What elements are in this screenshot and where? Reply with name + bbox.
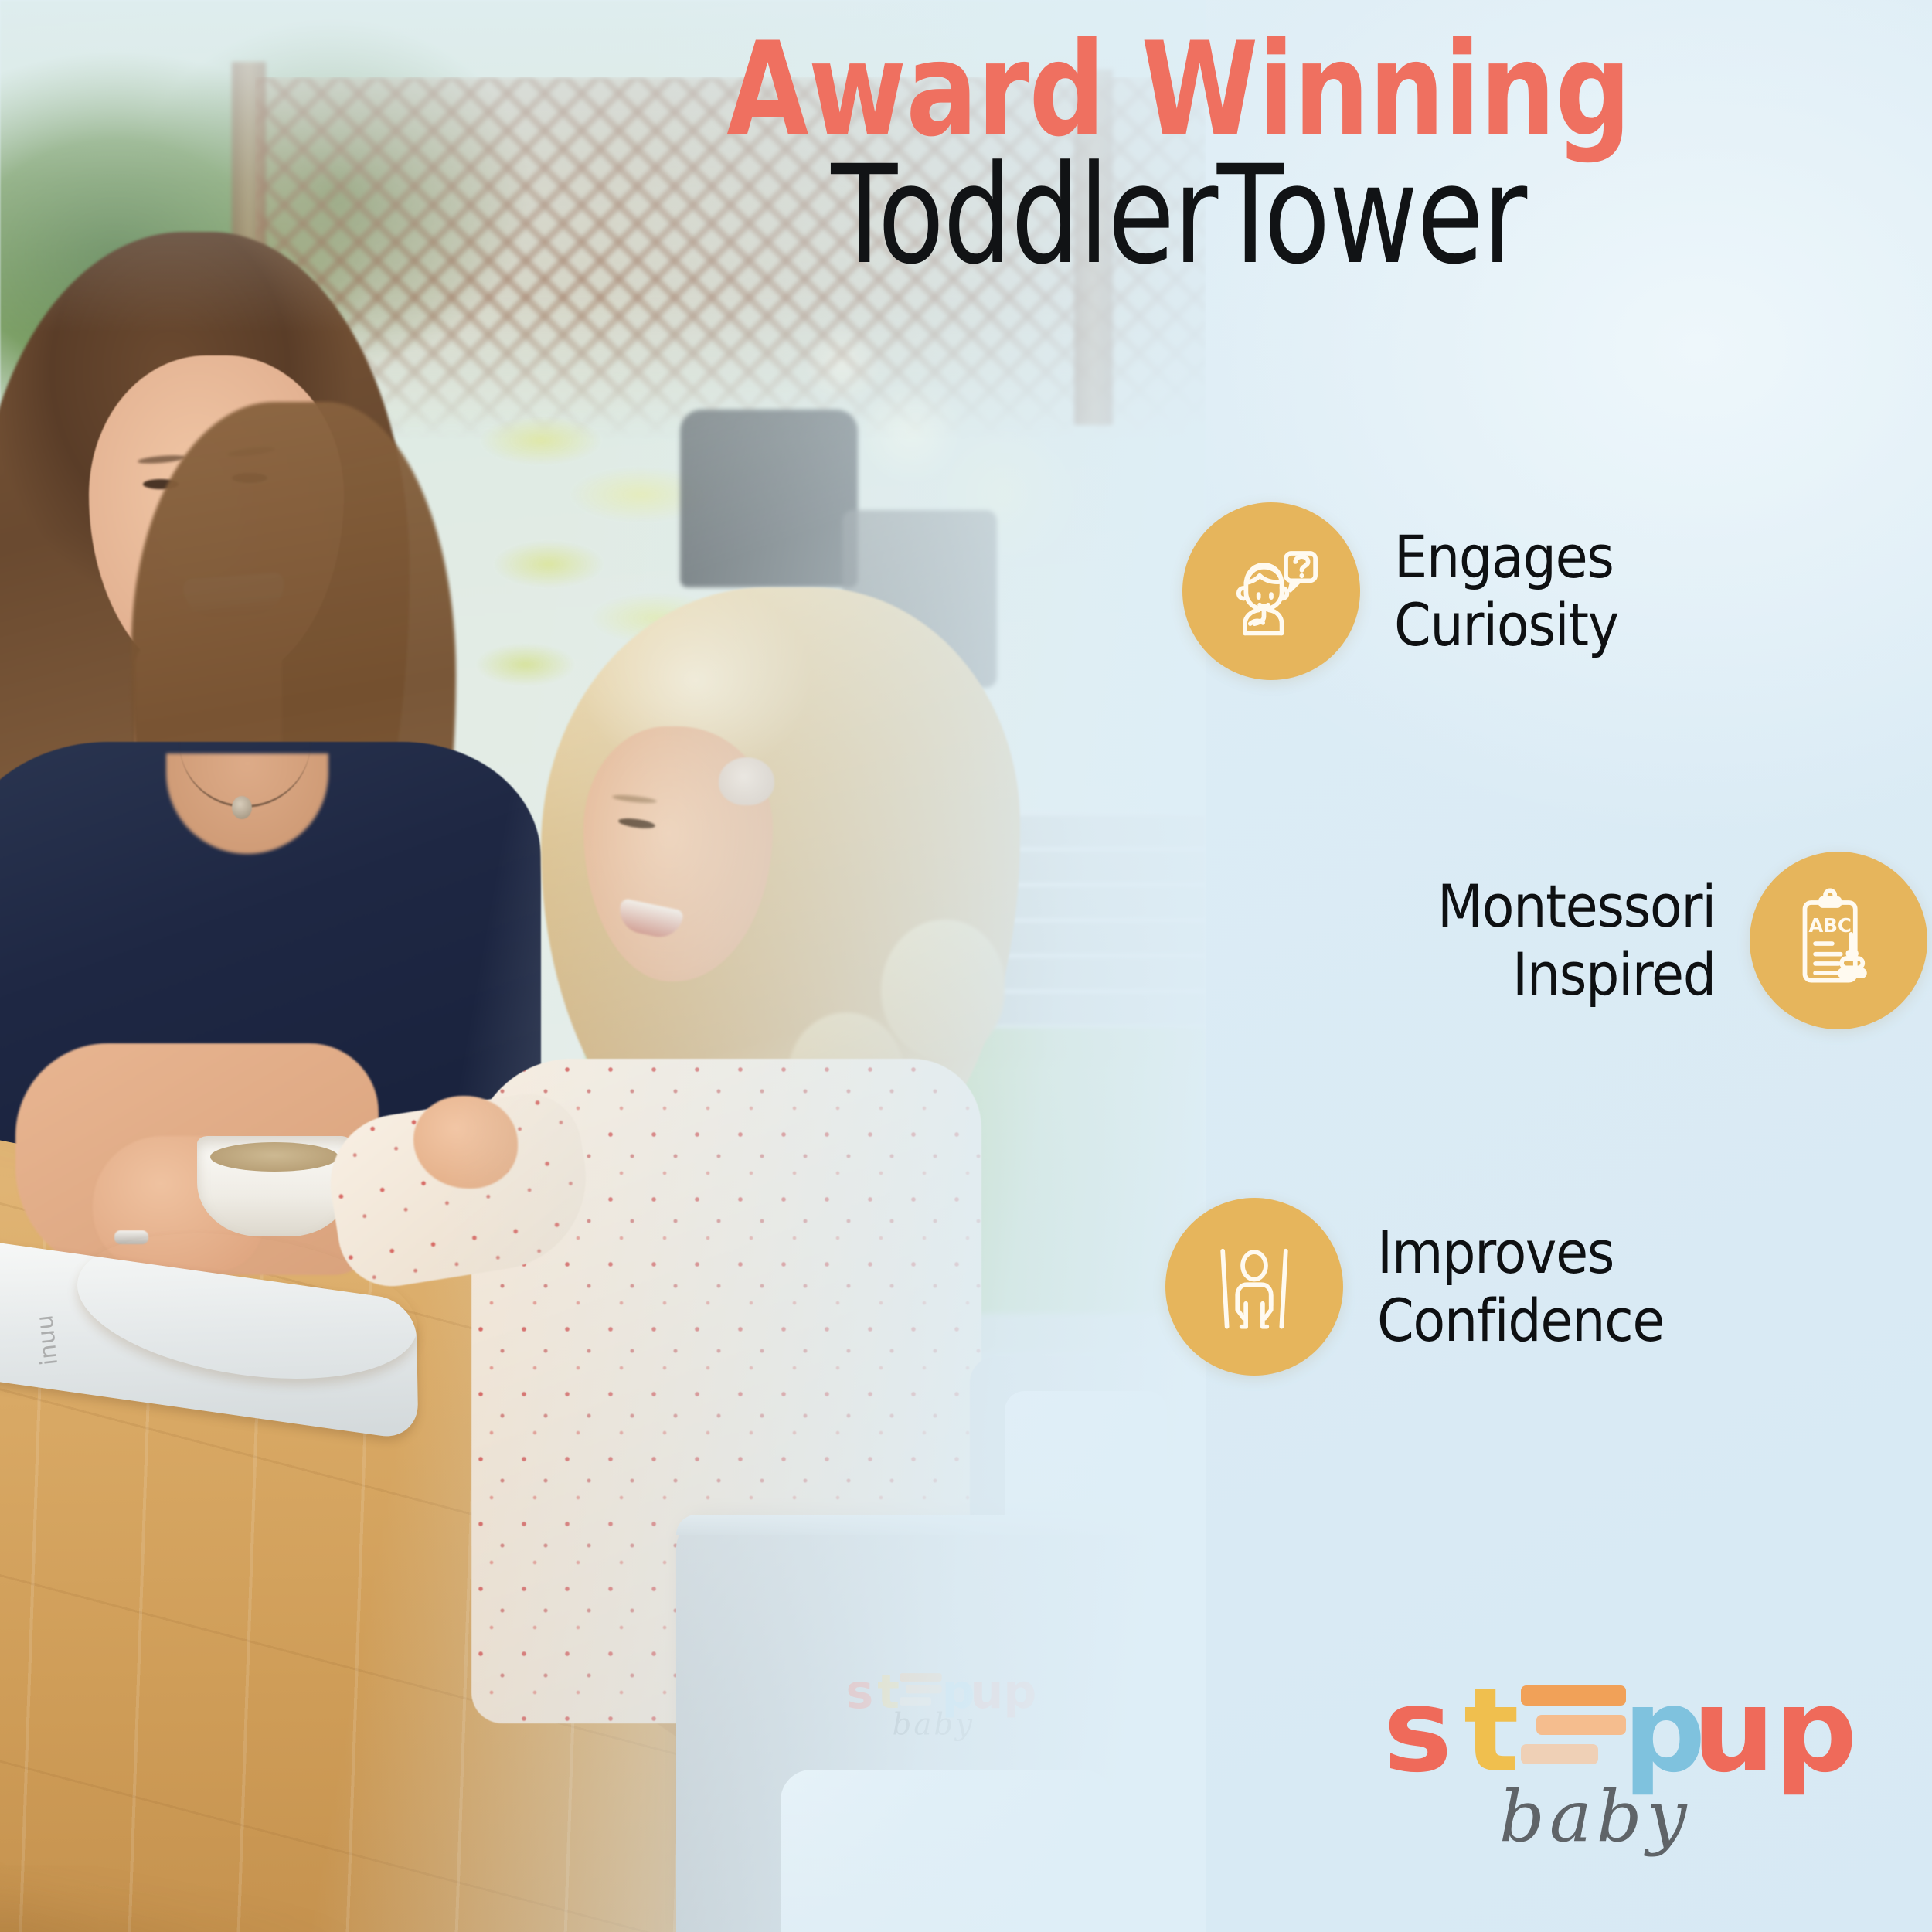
feature-montessori-inspired: ABC Montessori Inspired (1185, 852, 1927, 1029)
patio-chair (680, 410, 858, 587)
feature-list: Engages Curiosity ABC Montessori Inspire… (1182, 502, 1932, 1507)
feature-improves-confidence: Improves Confidence (1165, 1198, 1923, 1376)
learning-tower-rim (676, 1515, 1206, 1535)
brand-logo-step-bar-2 (1536, 1715, 1626, 1735)
mushroom-slices (210, 1142, 338, 1172)
product-logo-letter-u: u (971, 1668, 1004, 1715)
product-logo-tagline: baby (893, 1708, 975, 1743)
product-logo-step-bar-1 (900, 1673, 941, 1682)
product-logo-letter-p2: p (1003, 1668, 1036, 1715)
brand-logo-wordmark: s t p u p (1383, 1665, 1816, 1789)
feature-label: Montessori Inspired (1437, 872, 1716, 1009)
brand-logo-letter-s: s (1383, 1673, 1452, 1789)
necklace-pendant (232, 796, 252, 819)
thinking-child-question-icon (1219, 539, 1324, 644)
brand-logo-letter-u: u (1692, 1673, 1775, 1789)
learning-tower-fastener (1184, 1660, 1206, 1686)
headline-block: Award Winning ToddlerTower (448, 28, 1909, 284)
brand-logo-letter-p2: p (1774, 1673, 1857, 1789)
feature-label: Improves Confidence (1377, 1219, 1664, 1355)
brand-logo-step-bar-1 (1521, 1685, 1626, 1706)
product-logo-on-tower: s t p u p baby (846, 1646, 1071, 1759)
child-hair-curl (881, 920, 1005, 1059)
brand-logo-letter-t: t (1464, 1673, 1519, 1789)
child-standing-between-rails-icon (1202, 1234, 1307, 1339)
brand-logo-step-bar-3 (1521, 1744, 1598, 1764)
product-logo-step-bar-2 (906, 1685, 942, 1694)
learning-tower-front-cutout (781, 1770, 1113, 1932)
svg-text:ABC: ABC (1808, 914, 1852, 937)
badge-circle: ABC (1750, 852, 1927, 1029)
badge-circle (1182, 502, 1360, 680)
badge-circle (1165, 1198, 1343, 1376)
abc-clipboard-stacking-rings-icon: ABC (1786, 888, 1891, 993)
product-logo-step-bar-3 (900, 1697, 931, 1706)
page-title: ToddlerTower (594, 148, 1763, 284)
feature-label: Engages Curiosity (1394, 523, 1618, 659)
child-hair-clip (719, 757, 774, 805)
product-logo-letter-s: s (846, 1668, 874, 1715)
poster-canvas: inuu s t p u p (0, 0, 1932, 1932)
feature-engages-curiosity: Engages Curiosity (1182, 502, 1924, 680)
headline-line-1: Award Winning (580, 28, 1777, 152)
brand-logo-tagline: baby (1499, 1775, 1692, 1858)
brand-logo: s t p u p baby (1383, 1665, 1816, 1874)
